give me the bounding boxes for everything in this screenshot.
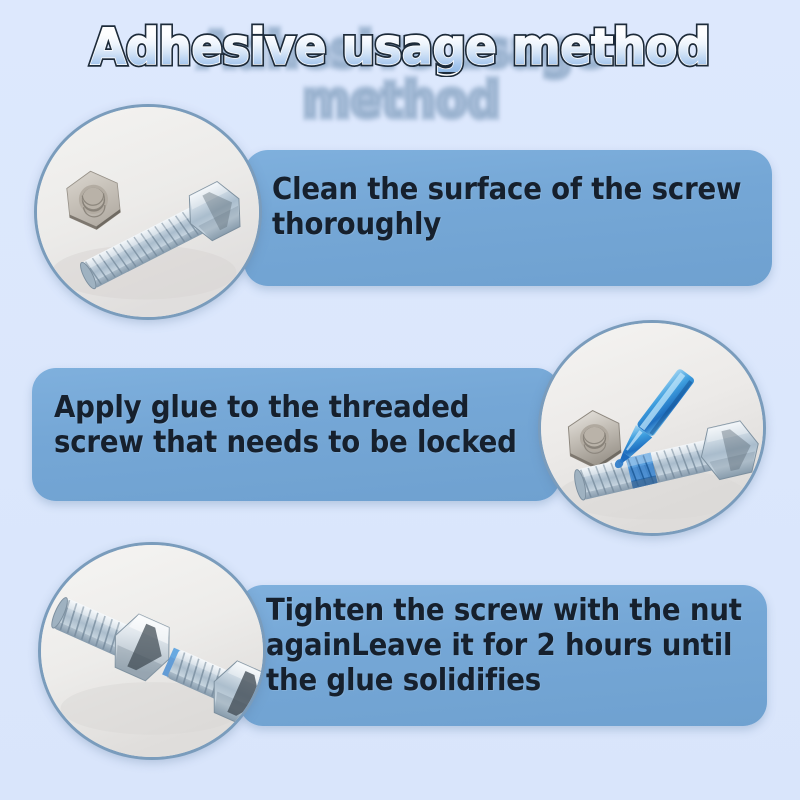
infographic-page: Adhesive usage method Adhesive usage met… bbox=[0, 0, 800, 800]
step-2-text: Apply glue to the threaded screw that ne… bbox=[54, 390, 532, 460]
page-title: Adhesive usage method Adhesive usage met… bbox=[0, 22, 800, 72]
step-3-photo bbox=[38, 542, 266, 760]
step-2-photo bbox=[538, 320, 766, 536]
tightened-bolt-illustration bbox=[41, 545, 263, 757]
step-1-photo bbox=[34, 104, 262, 320]
glue-application-illustration bbox=[541, 323, 763, 533]
title-text-stack: Adhesive usage method Adhesive usage met… bbox=[90, 22, 710, 72]
title-gradient-fill: Adhesive usage method bbox=[90, 22, 710, 72]
step-1-text: Clean the surface of the screw thoroughl… bbox=[272, 172, 750, 242]
nut-and-bolt-illustration bbox=[37, 107, 259, 317]
step-3-text: Tighten the screw with the nut againLeav… bbox=[266, 593, 754, 698]
